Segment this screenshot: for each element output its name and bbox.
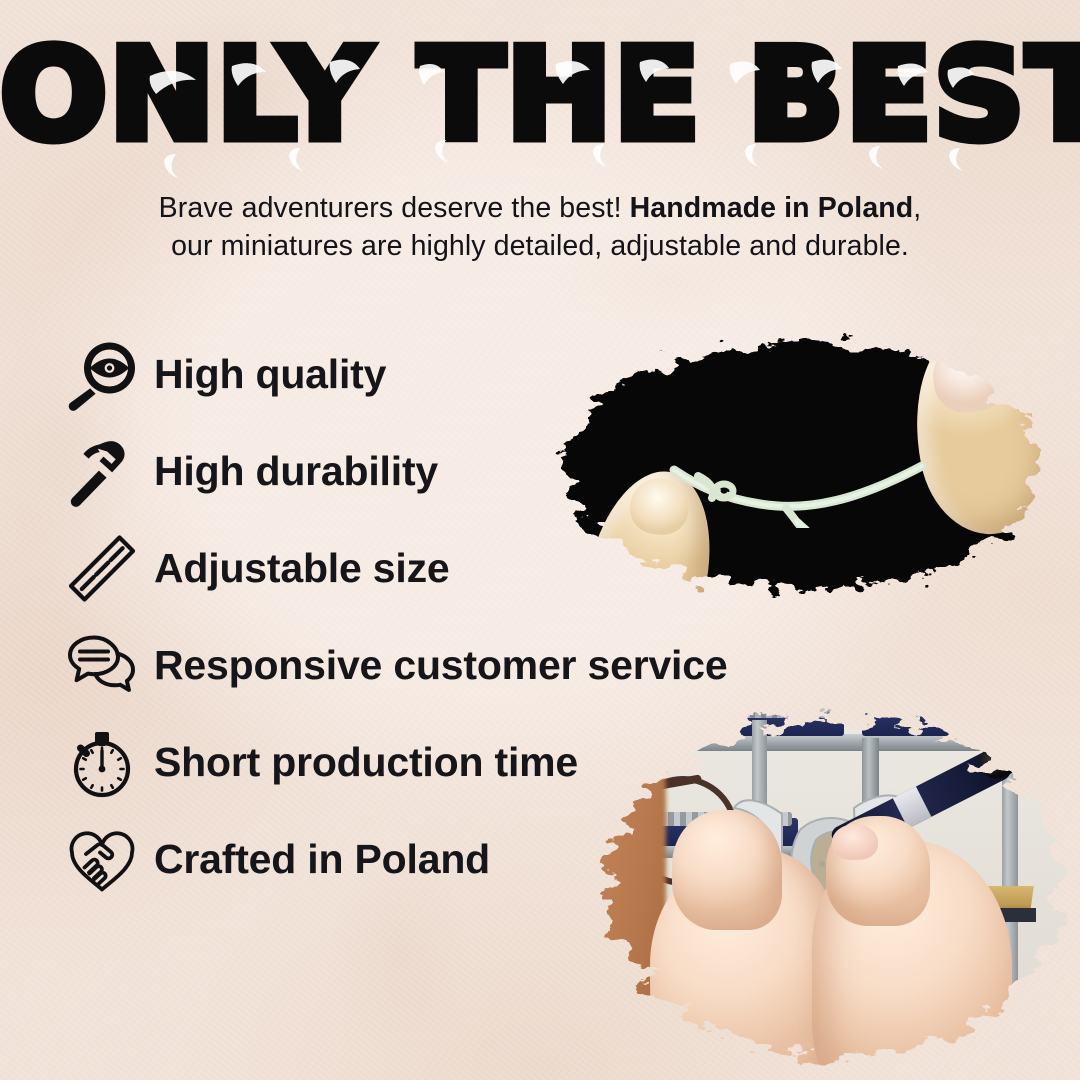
feature-label: High durability: [154, 448, 438, 495]
page-title-text: ONLY THE BEST: [0, 21, 1080, 168]
flexible-miniature-photo: [540, 308, 1060, 618]
feature-label: Crafted in Poland: [154, 836, 490, 883]
subtitle-line-2: our miniatures are highly detailed, adju…: [171, 230, 909, 262]
promo-banner: ONLY THE BEST: [0, 0, 1080, 1080]
feature-label: Responsive customer service: [154, 642, 727, 689]
magnifier-eye-icon: [62, 336, 142, 414]
subtitle-tail: ,: [913, 192, 921, 224]
page-title: ONLY THE BEST: [0, 32, 1080, 158]
hammer-icon: [62, 433, 142, 511]
feature-label: High quality: [154, 351, 386, 398]
subtitle-bold-phrase: Handmade in Poland: [630, 192, 914, 224]
thumbnail-right: [832, 824, 878, 860]
feature-label: Adjustable size: [154, 545, 449, 592]
subtitle-line-1: Brave adventurers deserve the best! Hand…: [159, 192, 922, 224]
feature-label: Short production time: [154, 739, 578, 786]
subtitle: Brave adventurers deserve the best! Hand…: [60, 190, 1020, 265]
handshake-heart-icon: [62, 821, 142, 899]
subtitle-lead: Brave adventurers deserve the best!: [159, 192, 630, 224]
miniatures-upper-left: [700, 704, 836, 718]
stopwatch-icon: [62, 724, 142, 802]
ruler-icon: [62, 530, 142, 608]
miniatures-upper-right: [868, 700, 1052, 716]
speech-bubbles-icon: [62, 627, 142, 705]
fingernail-right: [929, 336, 1011, 416]
workshop-hands-photo: [576, 690, 1080, 1080]
photo-black-background: [540, 308, 1060, 618]
bendable-miniature-part: [668, 456, 948, 528]
hand-left-fingers: [672, 810, 782, 930]
